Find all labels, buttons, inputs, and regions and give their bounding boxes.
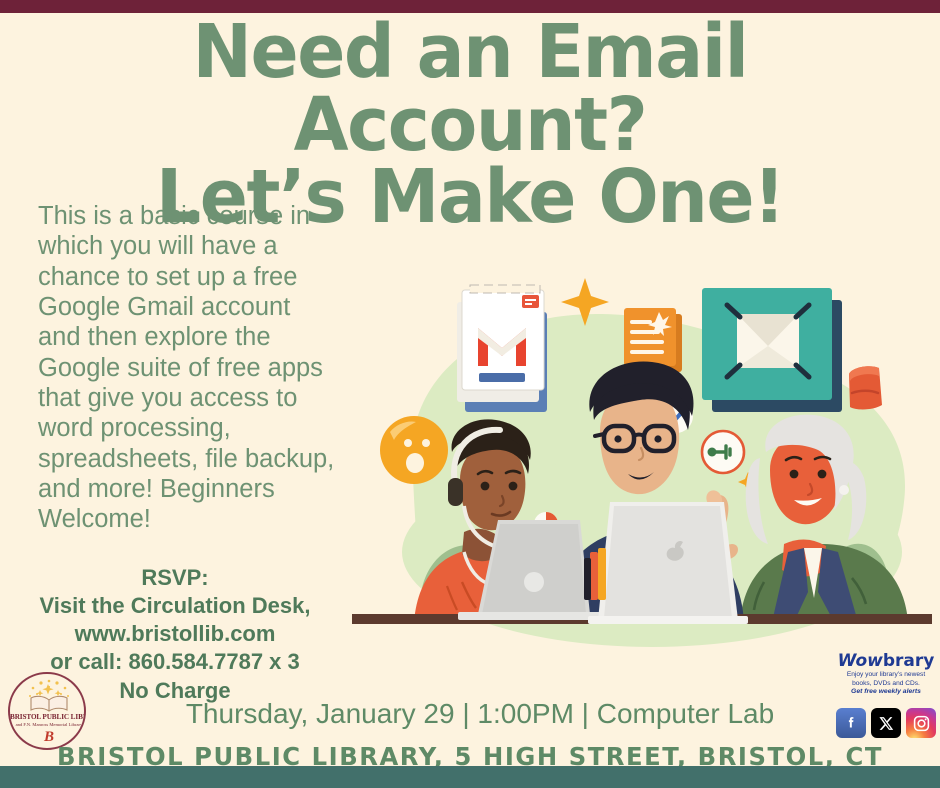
facebook-icon[interactable] [836,708,866,738]
rsvp-line-visit-desk: Visit the Circulation Desk, [10,592,340,620]
x-glyph [878,715,895,732]
logo-circle-border: BRISTOL PUBLIC LIBRARY and F.N. Manross … [8,672,86,750]
rsvp-heading: RSVP: [10,564,340,592]
description-paragraph: This is a basic course in which you will… [38,201,338,535]
bottom-accent-bar [0,766,940,788]
logo-library-name: BRISTOL PUBLIC LIBRARY [10,713,86,721]
wowbrary-sub-line-1: Enjoy your library’s newest [836,671,936,679]
rsvp-website-link[interactable]: www.bristollib.com [10,620,340,648]
illustration-svg [352,252,932,652]
social-links [836,708,936,738]
wowbrary-title-wow: Wow [838,651,883,671]
magnifier-key-icon [702,431,744,473]
wowbrary-title-brary: brary [883,651,935,671]
x-twitter-icon[interactable] [871,708,901,738]
facebook-f-glyph [842,714,860,732]
instagram-camera-glyph [912,714,931,733]
instagram-icon[interactable] [906,708,936,738]
wowbrary-badge[interactable]: Wowbrary Enjoy your library’s newest boo… [836,653,936,696]
headline-line-1: Need an Email Account? [19,16,921,161]
teal-envelope-icon [702,288,842,412]
library-logo: BRISTOL PUBLIC LIBRARY and F.N. Manross … [8,672,86,750]
wowbrary-sub-line-2: books, DVDs and CDs. [836,680,936,688]
logo-subtitle: and F.N. Manross Memorial Library [10,722,86,727]
wowbrary-alert-text: Get free weekly alerts [836,688,936,696]
event-dateline: Thursday, January 29 | 1:00PM | Computer… [120,698,840,730]
gmail-document-icon [457,285,547,412]
poster: Need an Email Account? Let’s Make One! T… [0,0,940,788]
orange-emoji-icon [380,416,448,484]
illustration [352,252,932,652]
wowbrary-title: Wowbrary [836,653,936,670]
laptop-right [588,502,748,624]
red-book-icon [849,366,882,409]
